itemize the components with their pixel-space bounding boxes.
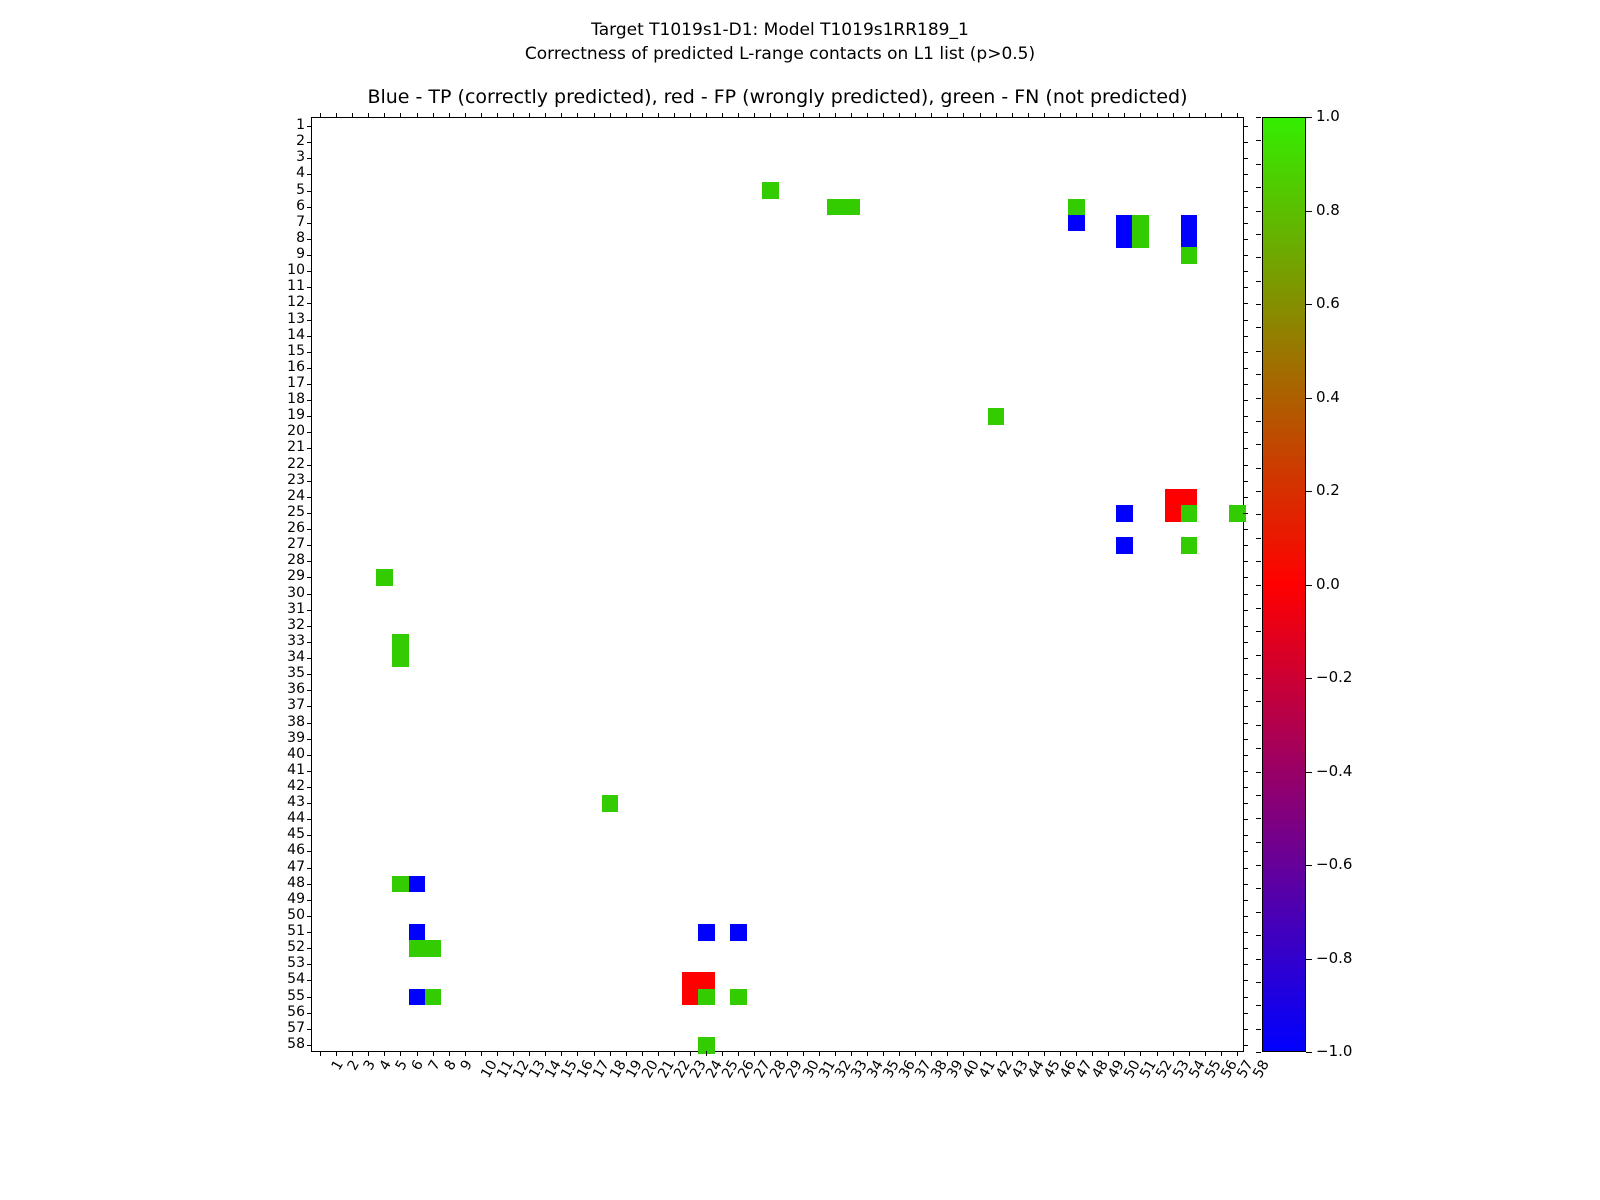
x-tick-mark xyxy=(787,1051,788,1056)
colorbar-minor-tick xyxy=(1256,327,1261,328)
y-tick-mark xyxy=(307,884,312,885)
y-tick-mark-right xyxy=(1243,884,1248,885)
y-tick-mark-right xyxy=(1243,690,1248,691)
colorbar-minor-tick xyxy=(1256,795,1261,796)
y-tick-mark-right xyxy=(1243,835,1248,836)
x-tick-mark-top xyxy=(1189,113,1190,118)
x-tick-mark-top xyxy=(449,113,450,118)
colorbar-minor-tick xyxy=(1256,982,1261,983)
y-tick-label: 49 xyxy=(287,892,305,906)
y-tick-label: 2 xyxy=(296,134,305,148)
colorbar-minor-tick xyxy=(1256,1052,1261,1053)
x-tick-mark xyxy=(1157,1051,1158,1056)
y-tick-label: 39 xyxy=(287,731,305,745)
y-tick-mark-right xyxy=(1243,384,1248,385)
x-tick-mark xyxy=(1044,1051,1045,1056)
x-tick-mark-top xyxy=(545,113,546,118)
y-tick-mark xyxy=(307,997,312,998)
x-tick-mark-top xyxy=(1060,113,1061,118)
x-tick-mark-top xyxy=(996,113,997,118)
x-tick-mark xyxy=(561,1051,562,1056)
y-tick-mark-right xyxy=(1243,481,1248,482)
x-tick-mark xyxy=(352,1051,353,1056)
x-tick-mark xyxy=(996,1051,997,1056)
y-tick-label: 53 xyxy=(287,956,305,970)
x-tick-mark-top xyxy=(738,113,739,118)
x-tick-mark xyxy=(433,1051,434,1056)
contact-cell-fp xyxy=(1165,489,1182,506)
x-tick-mark xyxy=(320,1051,321,1056)
y-tick-mark-right xyxy=(1243,1045,1248,1046)
y-tick-label: 6 xyxy=(296,199,305,213)
colorbar-tick-mark xyxy=(1306,959,1312,960)
colorbar-minor-tick xyxy=(1256,772,1261,773)
colorbar-tick-label: 0.2 xyxy=(1316,483,1340,498)
y-tick-mark xyxy=(307,352,312,353)
x-tick-mark xyxy=(1012,1051,1013,1056)
x-tick-mark xyxy=(1140,1051,1141,1056)
y-tick-label: 34 xyxy=(287,650,305,664)
y-tick-mark-right xyxy=(1243,400,1248,401)
y-tick-mark-right xyxy=(1243,207,1248,208)
contact-cell-fn xyxy=(425,989,442,1006)
x-tick-label: 1 xyxy=(329,1058,346,1073)
y-tick-mark xyxy=(307,1013,312,1014)
y-tick-label: 54 xyxy=(287,972,305,986)
x-tick-mark-top xyxy=(803,113,804,118)
y-tick-label: 4 xyxy=(296,166,305,180)
y-tick-mark xyxy=(307,723,312,724)
y-tick-mark xyxy=(307,400,312,401)
x-tick-mark xyxy=(658,1051,659,1056)
x-tick-label: 8 xyxy=(442,1058,459,1073)
x-tick-mark-top xyxy=(352,113,353,118)
contact-map-cells xyxy=(312,118,1243,1051)
x-tick-mark-top xyxy=(1124,113,1125,118)
colorbar-minor-tick xyxy=(1256,491,1261,492)
colorbar-minor-tick xyxy=(1256,117,1261,118)
y-tick-label: 37 xyxy=(287,698,305,712)
x-tick-mark-top xyxy=(980,113,981,118)
y-tick-mark-right xyxy=(1243,368,1248,369)
x-tick-mark xyxy=(738,1051,739,1056)
contact-cell-tp xyxy=(1181,231,1198,248)
colorbar xyxy=(1262,117,1306,1052)
x-tick-mark xyxy=(722,1051,723,1056)
y-tick-mark-right xyxy=(1243,610,1248,611)
y-tick-mark xyxy=(307,416,312,417)
y-tick-mark-right xyxy=(1243,642,1248,643)
colorbar-tick-label: −0.6 xyxy=(1316,857,1352,872)
y-tick-label: 35 xyxy=(287,666,305,680)
y-tick-mark-right xyxy=(1243,126,1248,127)
y-tick-mark-right xyxy=(1243,255,1248,256)
y-tick-label: 25 xyxy=(287,505,305,519)
y-tick-mark-right xyxy=(1243,916,1248,917)
x-tick-mark xyxy=(690,1051,691,1056)
x-tick-mark xyxy=(1028,1051,1029,1056)
x-tick-mark-top xyxy=(883,113,884,118)
x-tick-mark xyxy=(1205,1051,1206,1056)
x-tick-mark-top xyxy=(368,113,369,118)
y-tick-label: 56 xyxy=(287,1005,305,1019)
x-tick-mark xyxy=(1076,1051,1077,1056)
colorbar-minor-tick xyxy=(1256,561,1261,562)
y-tick-mark-right xyxy=(1243,674,1248,675)
y-tick-mark xyxy=(307,932,312,933)
y-tick-mark xyxy=(307,674,312,675)
colorbar-tick-mark xyxy=(1306,772,1312,773)
y-tick-label: 9 xyxy=(296,247,305,261)
y-tick-label: 50 xyxy=(287,908,305,922)
x-tick-mark xyxy=(883,1051,884,1056)
contact-cell-fn xyxy=(1132,215,1149,232)
contact-cell-fn xyxy=(1181,537,1198,554)
x-tick-mark-top xyxy=(706,113,707,118)
contact-cell-fp xyxy=(1165,505,1182,522)
x-tick-mark-top xyxy=(867,113,868,118)
colorbar-tick-labels: 1.00.80.60.40.20.0−0.2−0.4−0.6−0.8−1.0 xyxy=(1306,117,1366,1052)
colorbar-minor-tick xyxy=(1256,398,1261,399)
y-tick-label: 7 xyxy=(296,215,305,229)
x-tick-mark xyxy=(529,1051,530,1056)
x-tick-label: 7 xyxy=(426,1058,443,1073)
colorbar-minor-tick xyxy=(1256,421,1261,422)
x-tick-mark xyxy=(642,1051,643,1056)
y-tick-mark xyxy=(307,223,312,224)
y-tick-mark-right xyxy=(1243,158,1248,159)
y-tick-label: 10 xyxy=(287,263,305,277)
y-tick-mark xyxy=(307,739,312,740)
contact-cell-fp xyxy=(682,972,699,989)
y-tick-label: 5 xyxy=(296,183,305,197)
y-tick-mark-right xyxy=(1243,658,1248,659)
colorbar-minor-tick xyxy=(1256,187,1261,188)
contact-cell-fn xyxy=(1181,505,1198,522)
contact-cell-fn xyxy=(392,634,409,651)
y-tick-mark xyxy=(307,368,312,369)
y-tick-mark-right xyxy=(1243,191,1248,192)
x-tick-mark-top xyxy=(384,113,385,118)
colorbar-minor-tick xyxy=(1256,1029,1261,1030)
y-tick-mark xyxy=(307,320,312,321)
y-tick-mark xyxy=(307,594,312,595)
y-tick-label: 1 xyxy=(296,118,305,132)
colorbar-minor-tick xyxy=(1256,842,1261,843)
x-tick-mark xyxy=(931,1051,932,1056)
colorbar-tick-label: −1.0 xyxy=(1316,1044,1352,1059)
colorbar-tick-label: −0.2 xyxy=(1316,670,1352,685)
colorbar-minor-tick xyxy=(1256,257,1261,258)
y-tick-mark-right xyxy=(1243,948,1248,949)
x-tick-mark-top xyxy=(433,113,434,118)
colorbar-tick-label: −0.4 xyxy=(1316,764,1352,779)
y-tick-label: 12 xyxy=(287,295,305,309)
colorbar-tick-mark xyxy=(1306,304,1312,305)
x-tick-mark-top xyxy=(417,113,418,118)
y-tick-mark xyxy=(307,142,312,143)
colorbar-minor-tick xyxy=(1256,281,1261,282)
colorbar-minor-tick xyxy=(1256,631,1261,632)
colorbar-minor-tick xyxy=(1256,888,1261,889)
y-tick-mark-right xyxy=(1243,529,1248,530)
y-tick-mark xyxy=(307,851,312,852)
colorbar-minor-tick xyxy=(1256,725,1261,726)
colorbar-tick-mark xyxy=(1306,211,1312,212)
x-tick-mark xyxy=(417,1051,418,1056)
x-tick-mark-top xyxy=(947,113,948,118)
contact-cell-fn xyxy=(843,199,860,216)
y-tick-label: 19 xyxy=(287,408,305,422)
y-tick-mark-right xyxy=(1243,739,1248,740)
y-tick-mark-right xyxy=(1243,513,1248,514)
y-tick-mark xyxy=(307,271,312,272)
y-tick-mark-right xyxy=(1243,448,1248,449)
contact-cell-fn xyxy=(392,876,409,893)
contact-cell-fn xyxy=(1181,247,1198,264)
x-tick-mark-top xyxy=(465,113,466,118)
x-tick-mark-top xyxy=(1157,113,1158,118)
x-tick-mark-top xyxy=(674,113,675,118)
x-tick-mark-top xyxy=(513,113,514,118)
colorbar-minor-tick xyxy=(1256,211,1261,212)
x-tick-mark xyxy=(1173,1051,1174,1056)
y-tick-mark xyxy=(307,561,312,562)
y-tick-label: 21 xyxy=(287,440,305,454)
y-tick-mark-right xyxy=(1243,336,1248,337)
x-tick-mark xyxy=(336,1051,337,1056)
x-tick-mark xyxy=(754,1051,755,1056)
x-tick-mark xyxy=(770,1051,771,1056)
y-tick-label: 45 xyxy=(287,827,305,841)
y-tick-mark-right xyxy=(1243,771,1248,772)
colorbar-tick-label: 0.8 xyxy=(1316,203,1340,218)
y-tick-mark xyxy=(307,239,312,240)
y-tick-mark xyxy=(307,803,312,804)
y-tick-mark xyxy=(307,255,312,256)
colorbar-tick-mark xyxy=(1306,117,1312,118)
y-tick-mark-right xyxy=(1243,932,1248,933)
y-tick-mark-right xyxy=(1243,174,1248,175)
y-tick-label: 17 xyxy=(287,376,305,390)
x-tick-mark xyxy=(1060,1051,1061,1056)
colorbar-minor-tick xyxy=(1256,959,1261,960)
x-tick-mark xyxy=(368,1051,369,1056)
y-tick-label: 40 xyxy=(287,747,305,761)
x-tick-mark xyxy=(674,1051,675,1056)
y-tick-mark xyxy=(307,545,312,546)
y-tick-label: 24 xyxy=(287,489,305,503)
colorbar-minor-tick xyxy=(1256,585,1261,586)
x-tick-mark-top xyxy=(529,113,530,118)
x-tick-mark xyxy=(867,1051,868,1056)
y-tick-label: 47 xyxy=(287,860,305,874)
colorbar-minor-tick xyxy=(1256,234,1261,235)
x-tick-mark-top xyxy=(481,113,482,118)
contact-cell-tp xyxy=(1181,215,1198,232)
colorbar-minor-tick xyxy=(1256,140,1261,141)
contact-cell-tp xyxy=(409,989,426,1006)
y-axis-tick-labels: 1234567891011121314151617181920212223242… xyxy=(265,117,305,1052)
y-tick-mark-right xyxy=(1243,1029,1248,1030)
x-tick-mark-top xyxy=(1108,113,1109,118)
colorbar-tick-label: −0.8 xyxy=(1316,951,1352,966)
y-tick-mark-right xyxy=(1243,239,1248,240)
y-tick-label: 20 xyxy=(287,424,305,438)
x-tick-mark-top xyxy=(931,113,932,118)
y-tick-mark-right xyxy=(1243,626,1248,627)
x-tick-mark-top xyxy=(1076,113,1077,118)
x-tick-mark-top xyxy=(1205,113,1206,118)
x-tick-mark-top xyxy=(642,113,643,118)
x-tick-label: 3 xyxy=(362,1058,379,1073)
colorbar-minor-tick xyxy=(1256,701,1261,702)
y-tick-label: 58 xyxy=(287,1037,305,1051)
x-tick-mark xyxy=(899,1051,900,1056)
x-tick-mark xyxy=(803,1051,804,1056)
y-tick-mark xyxy=(307,497,312,498)
y-tick-mark-right xyxy=(1243,964,1248,965)
x-tick-mark-top xyxy=(336,113,337,118)
contact-cell-tp xyxy=(730,924,747,941)
y-tick-mark xyxy=(307,465,312,466)
y-tick-mark-right xyxy=(1243,706,1248,707)
y-tick-label: 55 xyxy=(287,989,305,1003)
x-tick-mark xyxy=(384,1051,385,1056)
x-tick-mark-top xyxy=(400,113,401,118)
y-tick-mark-right xyxy=(1243,868,1248,869)
x-tick-mark-top xyxy=(1140,113,1141,118)
colorbar-tick-mark xyxy=(1306,1052,1312,1053)
x-tick-mark-top xyxy=(577,113,578,118)
x-tick-mark-top xyxy=(658,113,659,118)
x-tick-mark-top xyxy=(690,113,691,118)
y-tick-mark-right xyxy=(1243,787,1248,788)
x-tick-mark xyxy=(1092,1051,1093,1056)
x-tick-mark xyxy=(577,1051,578,1056)
y-tick-mark-right xyxy=(1243,320,1248,321)
y-tick-mark xyxy=(307,481,312,482)
colorbar-minor-tick xyxy=(1256,865,1261,866)
y-tick-mark-right xyxy=(1243,577,1248,578)
y-tick-mark-right xyxy=(1243,851,1248,852)
x-tick-mark-top xyxy=(1237,113,1238,118)
y-tick-mark xyxy=(307,1029,312,1030)
contact-cell-fn xyxy=(1132,231,1149,248)
x-tick-mark xyxy=(400,1051,401,1056)
x-tick-mark xyxy=(1108,1051,1109,1056)
contact-cell-tp xyxy=(1116,505,1133,522)
x-tick-mark-top xyxy=(835,113,836,118)
y-tick-label: 44 xyxy=(287,811,305,825)
x-tick-mark-top xyxy=(899,113,900,118)
y-tick-label: 8 xyxy=(296,231,305,245)
colorbar-tick-mark xyxy=(1306,398,1312,399)
x-tick-mark-top xyxy=(915,113,916,118)
y-tick-mark-right xyxy=(1243,287,1248,288)
y-tick-mark-right xyxy=(1243,223,1248,224)
colorbar-minor-tick xyxy=(1256,655,1261,656)
y-tick-label: 29 xyxy=(287,569,305,583)
x-tick-mark-top xyxy=(770,113,771,118)
y-tick-label: 32 xyxy=(287,618,305,632)
colorbar-tick-mark xyxy=(1306,585,1312,586)
y-tick-mark xyxy=(307,706,312,707)
y-tick-label: 11 xyxy=(287,279,305,293)
x-tick-mark-top xyxy=(610,113,611,118)
y-tick-mark-right xyxy=(1243,432,1248,433)
x-tick-mark-top xyxy=(1044,113,1045,118)
y-tick-mark xyxy=(307,287,312,288)
x-axis-tick-labels: 1234567891011121314151617181920212223242… xyxy=(311,1058,1244,1118)
y-tick-mark-right xyxy=(1243,142,1248,143)
y-tick-label: 31 xyxy=(287,602,305,616)
x-tick-mark xyxy=(851,1051,852,1056)
y-tick-mark-right xyxy=(1243,819,1248,820)
y-tick-mark xyxy=(307,787,312,788)
contact-cell-tp xyxy=(409,924,426,941)
x-tick-mark-top xyxy=(561,113,562,118)
y-tick-label: 46 xyxy=(287,843,305,857)
y-tick-mark xyxy=(307,690,312,691)
colorbar-minor-tick xyxy=(1256,351,1261,352)
contact-cell-fn xyxy=(730,989,747,1006)
colorbar-minor-tick xyxy=(1256,935,1261,936)
y-tick-mark xyxy=(307,626,312,627)
y-tick-label: 57 xyxy=(287,1021,305,1035)
y-tick-mark xyxy=(307,448,312,449)
colorbar-minor-tick xyxy=(1256,374,1261,375)
y-tick-mark xyxy=(307,577,312,578)
x-tick-mark-top xyxy=(1173,113,1174,118)
y-tick-label: 38 xyxy=(287,715,305,729)
contact-cell-fn xyxy=(827,199,844,216)
y-tick-label: 51 xyxy=(287,924,305,938)
y-tick-mark xyxy=(307,964,312,965)
y-tick-label: 27 xyxy=(287,537,305,551)
x-tick-mark xyxy=(1124,1051,1125,1056)
y-tick-label: 30 xyxy=(287,586,305,600)
x-tick-mark xyxy=(706,1051,707,1056)
y-tick-mark xyxy=(307,835,312,836)
contact-cell-tp xyxy=(1068,215,1085,232)
y-tick-mark-right xyxy=(1243,997,1248,998)
x-tick-mark xyxy=(1221,1051,1222,1056)
y-tick-mark-right xyxy=(1243,594,1248,595)
colorbar-minor-tick xyxy=(1256,514,1261,515)
contact-cell-tp xyxy=(1116,215,1133,232)
y-tick-mark xyxy=(307,174,312,175)
x-tick-mark-top xyxy=(963,113,964,118)
x-tick-mark xyxy=(610,1051,611,1056)
x-tick-mark xyxy=(449,1051,450,1056)
colorbar-minor-tick xyxy=(1256,444,1261,445)
x-tick-mark xyxy=(915,1051,916,1056)
contact-cell-tp xyxy=(1116,231,1133,248)
contact-map-plot-area[interactable] xyxy=(311,117,1244,1052)
contact-cell-fn xyxy=(602,795,619,812)
y-tick-mark-right xyxy=(1243,1013,1248,1014)
y-tick-label: 33 xyxy=(287,634,305,648)
colorbar-minor-tick xyxy=(1256,608,1261,609)
contact-cell-fn xyxy=(1068,199,1085,216)
contact-cell-tp xyxy=(1116,537,1133,554)
x-tick-mark xyxy=(980,1051,981,1056)
colorbar-tick-mark xyxy=(1306,865,1312,866)
y-tick-mark xyxy=(307,336,312,337)
y-tick-mark xyxy=(307,303,312,304)
y-tick-mark xyxy=(307,900,312,901)
